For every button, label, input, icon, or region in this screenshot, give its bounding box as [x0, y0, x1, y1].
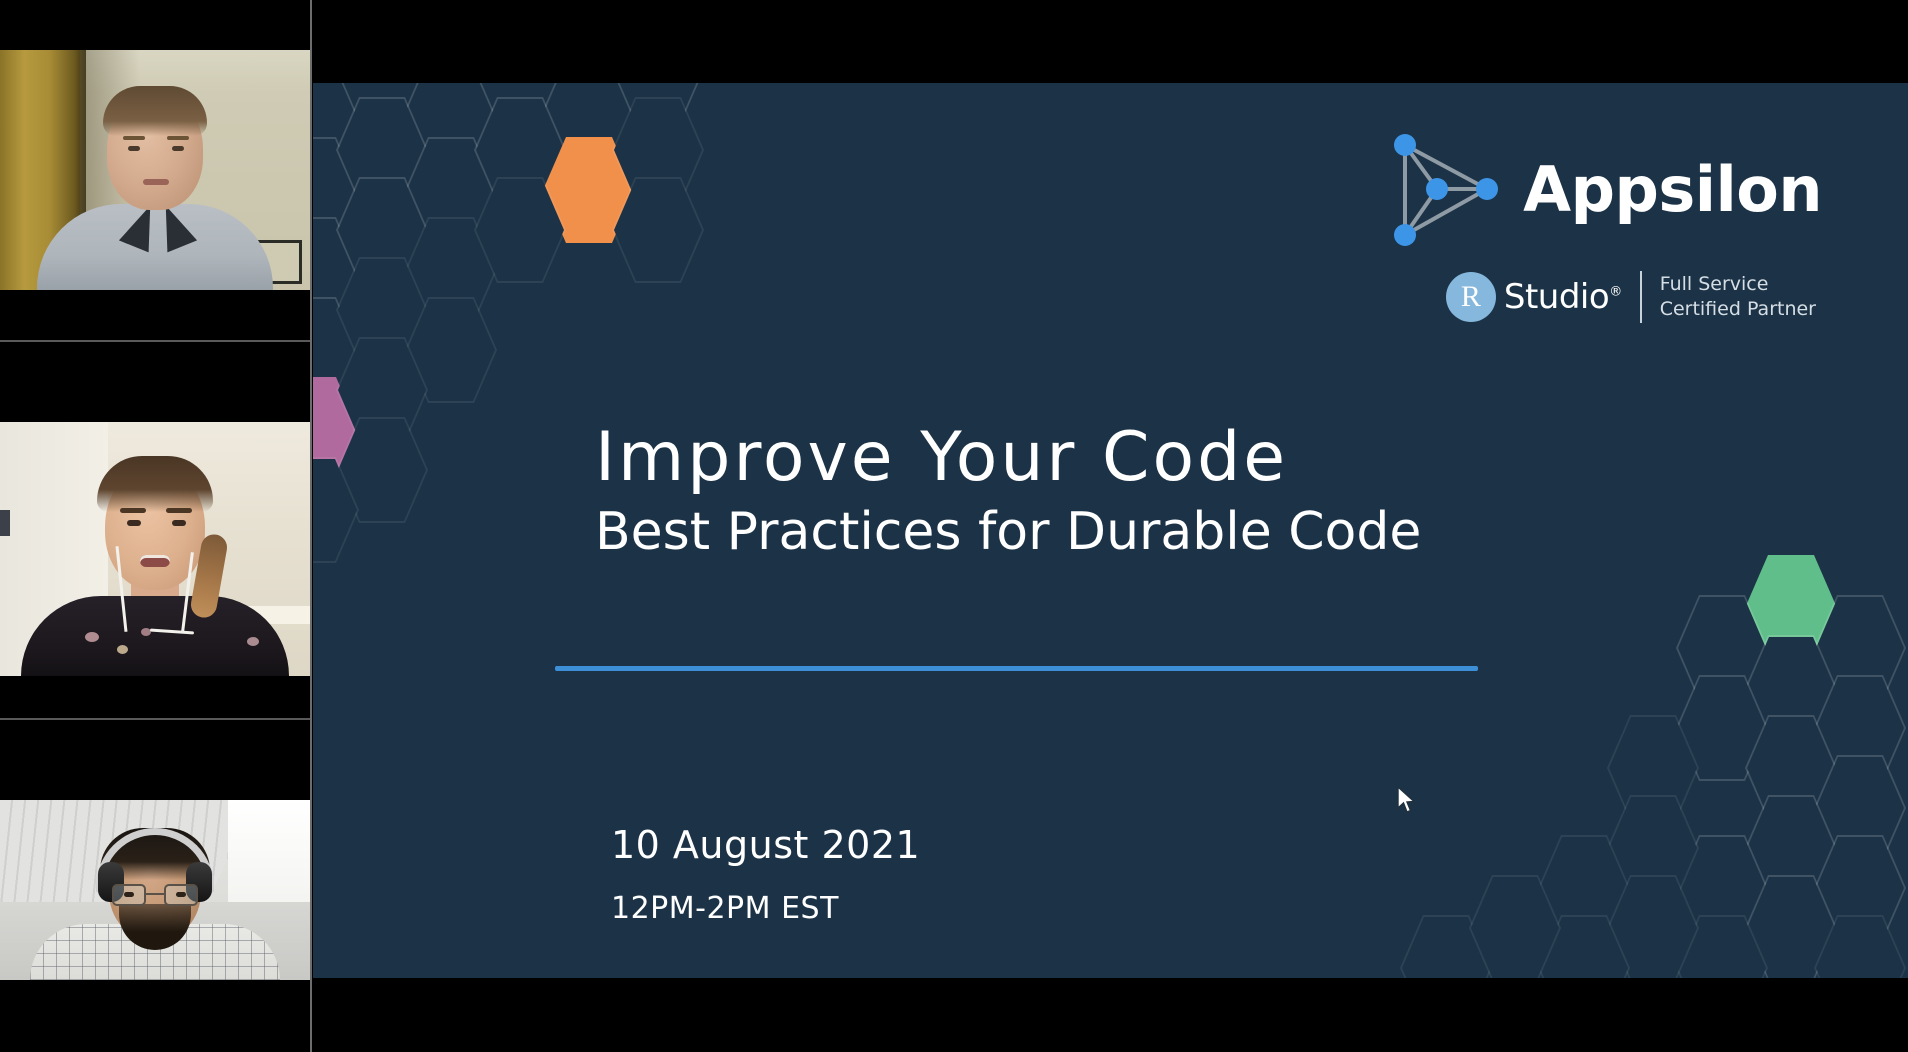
slide-subtitle: Best Practices for Durable Code — [595, 502, 1421, 562]
participant-tile-3[interactable] — [0, 720, 310, 1052]
mouse-pointer-icon — [1396, 786, 1418, 816]
screen-share-view: Appsilon R Studio® Full Service Certifie… — [0, 0, 1908, 1052]
participant-video-2[interactable] — [0, 422, 310, 676]
participant-filmstrip — [0, 0, 310, 1052]
partner-label-line1: Full Service — [1660, 272, 1816, 297]
participant-tile-1[interactable] — [0, 0, 310, 340]
rstudio-r-letter: R — [1461, 280, 1481, 314]
partner-label: Full Service Certified Partner — [1660, 272, 1816, 322]
wall-edge — [0, 510, 10, 536]
filmstrip-divider — [310, 0, 312, 1052]
badge-divider — [1640, 271, 1642, 323]
eyebrow-right — [166, 508, 192, 513]
rstudio-r-circle: R — [1446, 272, 1496, 322]
eye-left — [124, 892, 134, 897]
appsilon-logo: Appsilon — [1391, 131, 1822, 249]
eyebrow-right — [167, 136, 189, 140]
appsilon-wordmark: Appsilon — [1523, 159, 1822, 221]
schedule-block: 10 August 2021 12PM-2PM EST — [611, 823, 920, 926]
floral-pattern — [117, 645, 128, 654]
window-light — [228, 800, 310, 918]
mouth — [140, 555, 170, 567]
floral-pattern — [247, 637, 259, 646]
studio-text: Studio — [1504, 277, 1609, 317]
rstudio-studio-word: Studio® — [1504, 277, 1622, 317]
floral-pattern — [85, 632, 99, 642]
eyebrow-left — [120, 508, 146, 513]
participant-video-1[interactable] — [0, 50, 310, 290]
partner-label-line2: Certified Partner — [1660, 297, 1816, 322]
slide-title-block: Improve Your Code Best Practices for Dur… — [595, 423, 1421, 562]
eyebrow-left — [123, 136, 145, 140]
eye-right — [176, 892, 186, 897]
trademark-symbol: ® — [1609, 285, 1622, 300]
brand-block: Appsilon R Studio® Full Service Certifie… — [1391, 131, 1822, 323]
slide-title: Improve Your Code — [595, 423, 1421, 494]
accent-divider-line — [555, 666, 1478, 671]
network-graph-icon — [1391, 131, 1501, 249]
event-time: 12PM-2PM EST — [611, 891, 920, 926]
eye-right — [172, 520, 186, 526]
participant-video-3[interactable] — [0, 800, 310, 980]
hair — [103, 86, 207, 136]
eye-left — [128, 146, 140, 151]
participant-tile-2[interactable] — [0, 342, 310, 718]
eye-left — [127, 520, 141, 526]
event-date: 10 August 2021 — [611, 823, 920, 867]
shared-slide: Appsilon R Studio® Full Service Certifie… — [313, 83, 1908, 978]
rstudio-logo: R Studio® — [1446, 272, 1622, 322]
rstudio-partner-badge: R Studio® Full Service Certified Partner — [1391, 271, 1816, 323]
mouth — [143, 179, 169, 185]
hair — [97, 456, 213, 512]
floral-top — [21, 596, 289, 676]
eye-right — [172, 146, 184, 151]
eyeglass-bridge — [146, 893, 164, 895]
